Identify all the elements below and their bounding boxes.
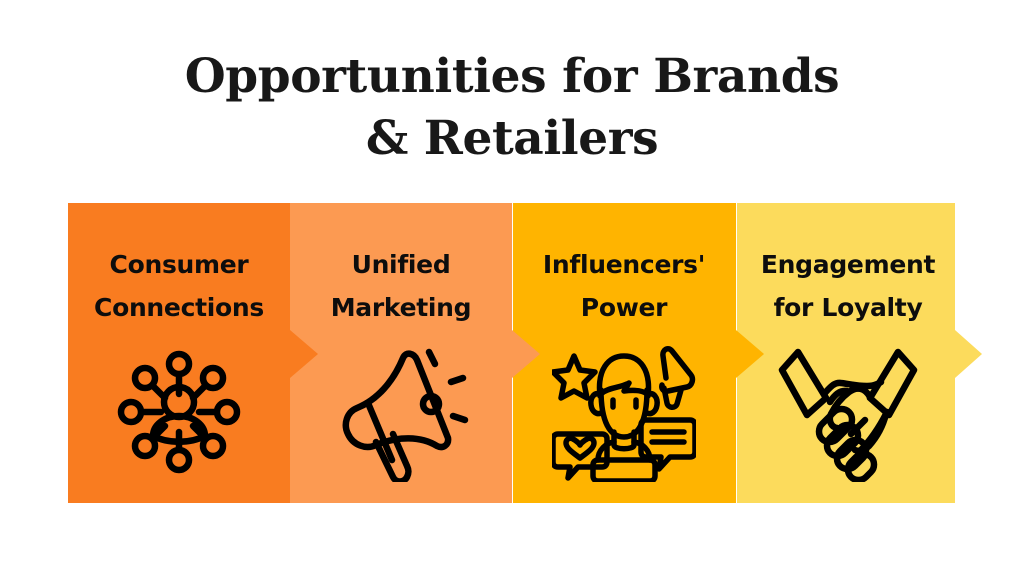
panel-unified-marketing[interactable]: Unified Marketing: [290, 203, 540, 503]
chevron-band: Consumer Connections: [68, 203, 982, 503]
panel-content: Influencers' Power: [513, 203, 735, 503]
network-connections-icon: [104, 337, 254, 487]
panel-heading-line-1: Consumer: [74, 243, 284, 286]
panel-heading: Consumer Connections: [74, 243, 284, 329]
panel-content: Consumer Connections: [68, 203, 290, 503]
panel-heading: Engagement for Loyalty: [743, 243, 953, 329]
panel-heading: Unified Marketing: [296, 243, 506, 329]
page-title: Opportunities for Brands & Retailers: [0, 46, 1024, 170]
influencer-icon: [549, 337, 699, 487]
panel-content: Unified Marketing: [290, 203, 512, 503]
panel-heading-line-1: Engagement: [743, 243, 953, 286]
panel-heading: Influencers' Power: [519, 243, 729, 329]
panel-heading-line-1: Influencers': [519, 243, 729, 286]
title-line-1: Opportunities for Brands: [0, 46, 1024, 108]
panel-heading-line-2: for Loyalty: [743, 286, 953, 329]
panel-heading-line-2: Marketing: [296, 286, 506, 329]
handshake-icon: [773, 337, 923, 487]
megaphone-icon: [326, 337, 476, 487]
panel-heading-line-1: Unified: [296, 243, 506, 286]
panel-heading-line-2: Power: [519, 286, 729, 329]
panel-heading-line-2: Connections: [74, 286, 284, 329]
panel-content: Engagement for Loyalty: [737, 203, 959, 503]
panel-influencers-power[interactable]: Influencers' Power: [513, 203, 764, 503]
infographic-slide: Opportunities for Brands & Retailers Con…: [0, 0, 1024, 576]
title-line-2: & Retailers: [0, 108, 1024, 170]
panel-consumer-connections[interactable]: Consumer Connections: [68, 203, 318, 503]
panel-engagement-for-loyalty[interactable]: Engagement for Loyalty: [737, 203, 982, 503]
